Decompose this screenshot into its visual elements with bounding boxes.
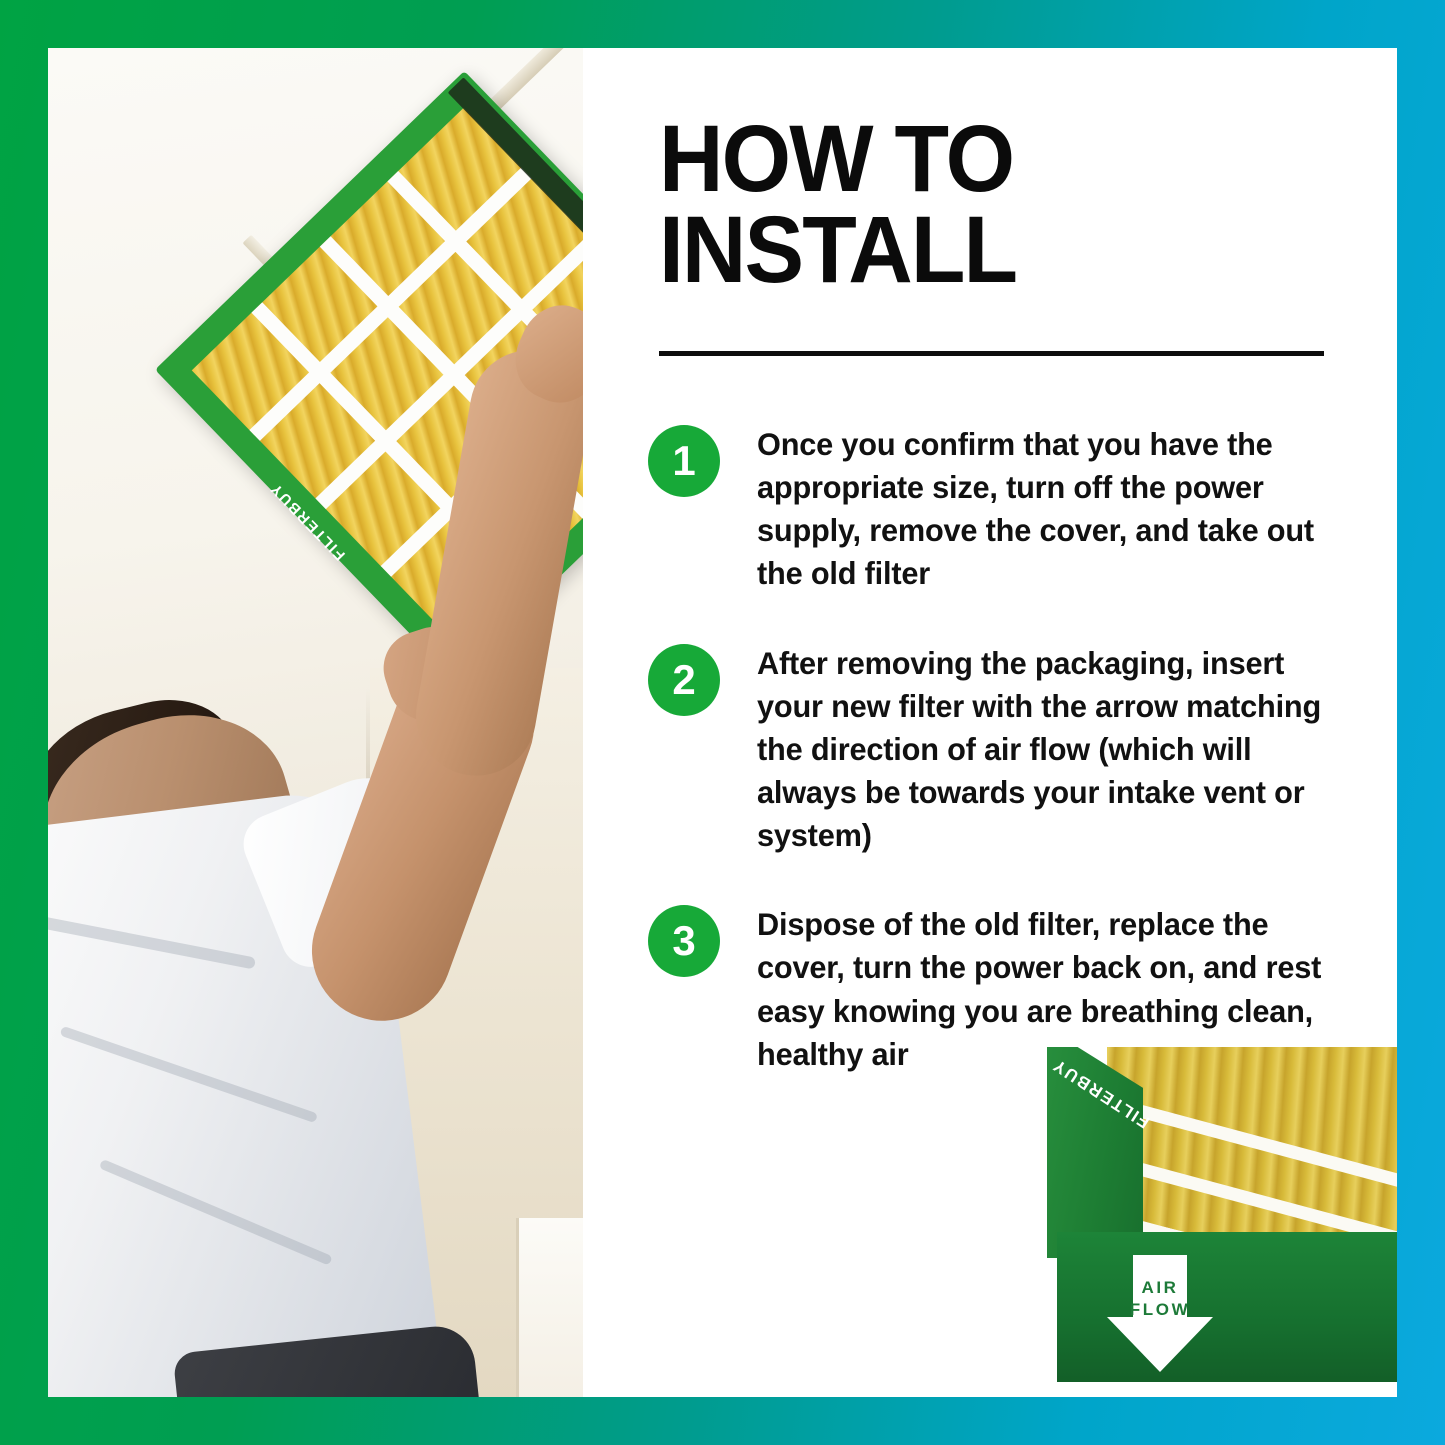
air-flow-arrow: AIR FLOW bbox=[1105, 1255, 1215, 1373]
shirt-fold bbox=[99, 1159, 333, 1266]
poster-root: FILTERBUY HOW TO INSTALL bbox=[0, 0, 1445, 1445]
content-column: HOW TO INSTALL 1 Once you confirm that y… bbox=[648, 48, 1397, 1397]
shirt-fold bbox=[48, 912, 256, 970]
step-text: After removing the packaging, insert you… bbox=[757, 642, 1327, 858]
install-photo: FILTERBUY bbox=[48, 48, 583, 1397]
air-flow-label: AIR FLOW bbox=[1105, 1277, 1215, 1321]
step-number-badge: 1 bbox=[648, 425, 720, 497]
steps-list: 1 Once you confirm that you have the app… bbox=[648, 423, 1348, 1122]
step-number-badge: 3 bbox=[648, 905, 720, 977]
step-text: Once you confirm that you have the appro… bbox=[757, 423, 1327, 596]
door-panel bbox=[516, 1218, 583, 1397]
step-item: 2 After removing the packaging, insert y… bbox=[648, 642, 1348, 858]
page-title: HOW TO INSTALL bbox=[659, 114, 1016, 296]
shirt-fold bbox=[60, 1026, 319, 1123]
step-number-badge: 2 bbox=[648, 644, 720, 716]
product-pleat-area: FILTERBUY bbox=[1047, 1047, 1397, 1258]
step-item: 1 Once you confirm that you have the app… bbox=[648, 423, 1348, 596]
poster-inner: FILTERBUY HOW TO INSTALL bbox=[48, 48, 1397, 1397]
title-divider bbox=[659, 351, 1324, 356]
product-filter-image: FILTERBUY AIR FLOW bbox=[1047, 1047, 1397, 1397]
